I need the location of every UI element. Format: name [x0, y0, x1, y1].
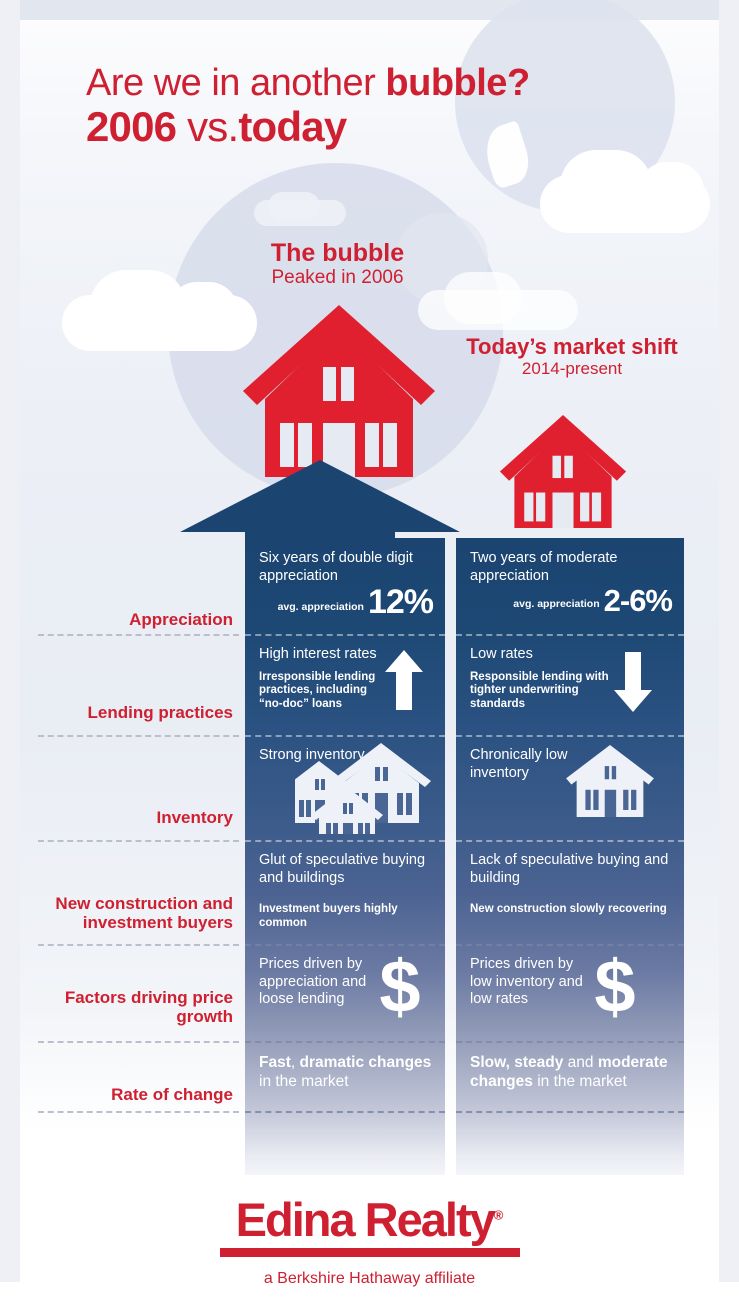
cell-headline: Chronically low inventory: [470, 747, 580, 782]
row-divider: [38, 1041, 239, 1043]
cell-detail: Investment buyers highly common: [259, 903, 433, 931]
rate-emph-1: Fast: [259, 1054, 291, 1071]
headline-year: 2006: [86, 103, 176, 150]
row-label-rail: Appreciation Lending practices Inventory…: [24, 538, 239, 1175]
svg-text:$: $: [379, 952, 420, 1022]
cell-headline: Lack of speculative buying and building: [470, 852, 672, 887]
row-label-new-construction: New construction and investment buyers: [28, 894, 233, 932]
cell-today-appreciation: Two years of moderate appreciation avg. …: [456, 538, 684, 634]
row-divider: [38, 944, 239, 946]
svg-text:$: $: [594, 952, 635, 1022]
cloud-inner-bubble-2: [268, 192, 320, 220]
cell-detail: Responsible lending with tighter underwr…: [470, 671, 615, 712]
today-caption-title: Today’s market shift: [452, 335, 692, 359]
metric-value: 12%: [368, 587, 433, 618]
rate-emph-1: Slow, steady: [470, 1054, 563, 1071]
rate-emph-2: dramatic changes: [300, 1054, 432, 1071]
cell-2006-inventory: Strong inventory: [245, 735, 445, 840]
headline-vs: vs.: [176, 103, 238, 150]
cell-2006-lending: High interest rates Irresponsible lendin…: [245, 634, 445, 735]
row-label-appreciation: Appreciation: [129, 610, 233, 629]
bubble-column-caption: The bubble Peaked in 2006: [205, 240, 470, 289]
cell-headline: Two years of moderate appreciation: [470, 550, 672, 585]
headline-line1-plain: Are we in another: [86, 62, 385, 104]
page-title: Are we in another bubble? 2006 vs.today: [86, 63, 686, 150]
footer: Edina Realty® a Berkshire Hathaway affil…: [0, 1196, 739, 1288]
row-label-factors: Factors driving price growth: [24, 988, 233, 1026]
today-column-caption: Today’s market shift 2014-present: [452, 335, 692, 378]
cell-2006-appreciation: Six years of double digit appreciation a…: [245, 538, 445, 634]
rate-mid: ,: [291, 1054, 300, 1071]
headline-today: today: [238, 103, 346, 150]
logo-underline: [220, 1248, 520, 1257]
upward-arrow-icon: [180, 460, 460, 550]
infographic-page: Are we in another bubble? 2006 vs.today …: [0, 0, 739, 1302]
three-houses-icon: [295, 739, 445, 834]
cell-headline: Glut of speculative buying and buildings: [259, 852, 433, 887]
rate-tail: in the market: [259, 1073, 349, 1090]
metric-label: avg. appreciation: [513, 598, 603, 616]
today-caption-subtitle: 2014-present: [452, 359, 692, 379]
edina-realty-logo: Edina Realty®: [220, 1196, 520, 1257]
dollar-sign-icon: $: [594, 952, 636, 1022]
cell-2006-factors: Prices driven by appreciation and loose …: [245, 944, 445, 1041]
rate-tail: in the market: [533, 1073, 627, 1090]
bubble-caption-subtitle: Peaked in 2006: [205, 267, 470, 289]
metric-label: avg. appreciation: [278, 601, 368, 619]
logo-wordmark: Edina Realty: [236, 1193, 494, 1246]
row-divider: [38, 840, 239, 842]
row-label-inventory: Inventory: [156, 808, 233, 827]
row-label-lending-practices: Lending practices: [88, 703, 233, 722]
bubble-caption-title: The bubble: [205, 240, 470, 267]
row-divider: [38, 634, 239, 636]
rate-mid: and: [563, 1054, 597, 1071]
cell-today-inventory: Chronically low inventory: [456, 735, 684, 840]
one-house-icon: [566, 745, 654, 817]
cell-detail: New construction slowly recovering: [470, 903, 672, 917]
cell-today-lending: Low rates Responsible lending with tight…: [456, 634, 684, 735]
left-border: [0, 0, 20, 1302]
cell-headline: Prices driven by low inventory and low r…: [470, 956, 590, 1009]
row-divider: [38, 735, 239, 737]
house-small-icon: [492, 415, 634, 528]
row-label-rate-of-change: Rate of change: [111, 1085, 233, 1104]
arrow-down-icon: [614, 652, 652, 712]
cell-today-rate: Slow, steady and moderate changes in the…: [456, 1041, 684, 1111]
column-today: Two years of moderate appreciation avg. …: [456, 538, 684, 1175]
house-large-icon: [243, 305, 435, 477]
footer-tagline: a Berkshire Hathaway affiliate: [0, 1270, 739, 1288]
metric-value: 2-6%: [604, 587, 672, 616]
column-2006: Six years of double digit appreciation a…: [245, 538, 445, 1175]
arrow-up-icon: [385, 650, 423, 710]
cell-today-construction: Lack of speculative buying and building …: [456, 840, 684, 944]
cell-headline: Six years of double digit appreciation: [259, 550, 433, 585]
registered-trademark-icon: ®: [494, 1207, 504, 1222]
headline-line1-bold: bubble?: [385, 62, 529, 104]
cell-2006-rate: Fast, dramatic changes in the market: [245, 1041, 445, 1111]
right-border: [719, 0, 739, 1302]
cell-headline: Prices driven by appreciation and loose …: [259, 956, 379, 1009]
cell-2006-construction: Glut of speculative buying and buildings…: [245, 840, 445, 944]
row-divider: [38, 1111, 239, 1113]
cell-detail: Irresponsible lending practices, includi…: [259, 671, 384, 712]
cell-today-factors: Prices driven by low inventory and low r…: [456, 944, 684, 1041]
dollar-sign-icon: $: [379, 952, 421, 1022]
